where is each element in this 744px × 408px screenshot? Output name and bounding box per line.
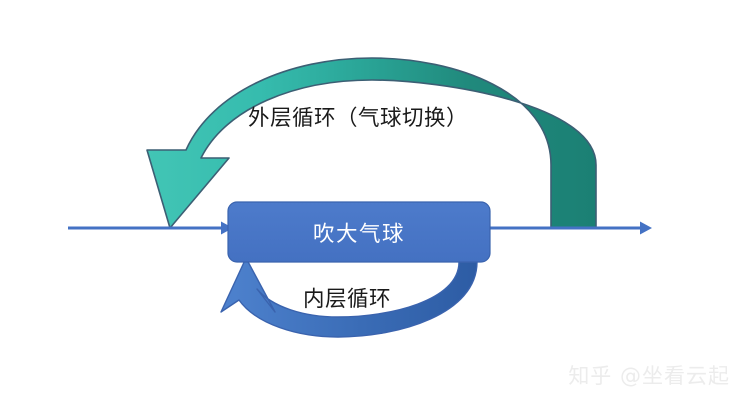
- diagram-canvas: 外层循环（气球切换） 吹大气球 内层循环 知乎 @坐看云起: [0, 0, 744, 408]
- watermark: 知乎 @坐看云起: [568, 360, 730, 390]
- inbound-flow-arrow: [68, 222, 233, 235]
- diagram-graphics: [0, 0, 744, 408]
- process-box[interactable]: [228, 202, 490, 262]
- inner-loop-label: 内层循环: [303, 289, 391, 311]
- outer-loop-label: 外层循环（气球切换）: [248, 108, 468, 130]
